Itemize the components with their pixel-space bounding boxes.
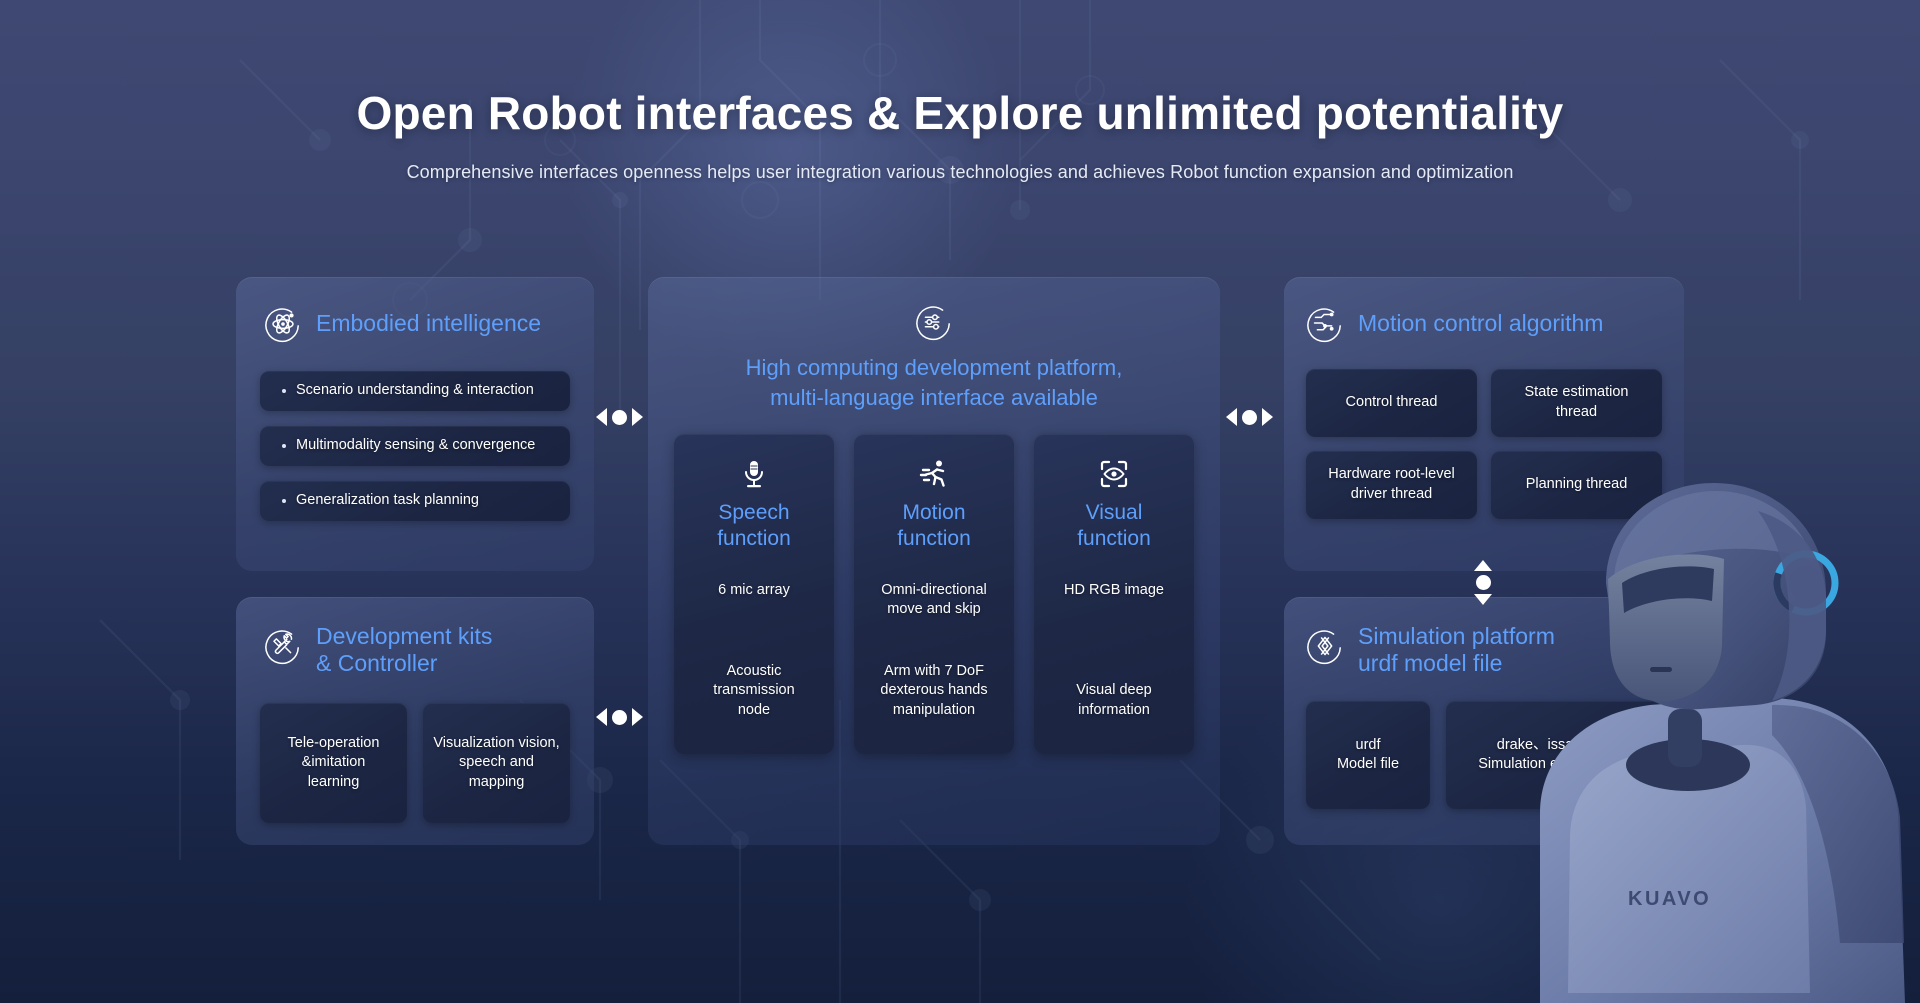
list-item[interactable]: Control thread	[1306, 369, 1477, 437]
eye-scan-icon	[1098, 456, 1130, 492]
list-item[interactable]: Multimodality sensing & convergence	[260, 426, 570, 466]
arrow-down-icon	[1474, 594, 1492, 605]
list-item-label: Generalization task planning	[282, 491, 479, 511]
function-detail-secondary: Acoustic transmission node	[713, 662, 794, 721]
microphone-icon	[738, 456, 770, 492]
function-detail-secondary: Visual deep information	[1076, 681, 1152, 720]
function-detail-primary: Omni-directional move and skip	[881, 581, 987, 620]
list-item[interactable]: Scenario understanding & interaction	[260, 371, 570, 411]
panel-header: Embodied intelligence	[264, 305, 570, 343]
connector-devkits-to-center	[596, 708, 643, 726]
list-item[interactable]: Hardware root-level driver thread	[1306, 451, 1477, 519]
page-title: Open Robot interfaces & Explore unlimite…	[0, 86, 1920, 140]
list-item[interactable]: Tele-operation &imitation learning	[260, 703, 407, 823]
list-item-label: Visualization vision, speech and mapping	[431, 734, 562, 793]
panel-title: High computing development platform, mul…	[674, 353, 1194, 412]
list-item-label: Multimodality sensing & convergence	[282, 436, 535, 456]
function-card-speech[interactable]: Speech function 6 mic array Acoustic tra…	[674, 434, 834, 754]
connector-center-to-motion-control	[1226, 408, 1273, 426]
circuit-nodes-icon	[1306, 305, 1344, 343]
panel-title: Motion control algorithm	[1358, 310, 1603, 337]
robot-brand-text: KUAVO	[1628, 888, 1711, 910]
panel-embodied-intelligence[interactable]: Embodied intelligence Scenario understan…	[236, 277, 594, 571]
tools-icon	[264, 627, 302, 665]
poster-canvas: Open Robot interfaces & Explore unlimite…	[0, 0, 1920, 1003]
list-item-label: Scenario understanding & interaction	[282, 381, 534, 401]
connector-embodied-to-center	[596, 408, 643, 426]
list-item[interactable]: Visualization vision, speech and mapping	[423, 703, 570, 823]
list-item-label: urdf Model file	[1337, 736, 1399, 775]
arrow-right-icon	[632, 408, 643, 426]
arrow-left-icon	[596, 708, 607, 726]
sliders-icon	[674, 303, 1194, 341]
devkits-items-list: Tele-operation &imitation learning Visua…	[260, 703, 570, 823]
connector-dot-icon	[1476, 575, 1491, 590]
list-item[interactable]: Generalization task planning	[260, 481, 570, 521]
function-detail-primary: HD RGB image	[1064, 581, 1164, 601]
function-card-motion[interactable]: Motion function Omni-directional move an…	[854, 434, 1014, 754]
header: Open Robot interfaces & Explore unlimite…	[0, 86, 1920, 183]
list-item-label: Tele-operation &imitation learning	[288, 734, 380, 793]
list-item[interactable]: urdf Model file	[1306, 701, 1430, 809]
connector-dot-icon	[612, 710, 627, 725]
panel-header: Motion control algorithm	[1306, 305, 1662, 343]
arrow-up-icon	[1474, 560, 1492, 571]
panel-header: Development kits & Controller	[264, 623, 570, 677]
atom-icon	[264, 305, 302, 343]
panel-title: Development kits & Controller	[316, 623, 492, 677]
list-item-label: Hardware root-level driver thread	[1328, 465, 1455, 504]
connector-motion-to-simulation	[1474, 560, 1492, 605]
running-person-icon	[918, 456, 950, 492]
function-detail-secondary: Arm with 7 DoF dexterous hands manipulat…	[880, 662, 987, 721]
function-title: Motion function	[897, 500, 971, 550]
list-item-label: Control thread	[1346, 393, 1438, 413]
function-title: Visual function	[1077, 500, 1151, 550]
function-detail-primary: 6 mic array	[718, 581, 790, 601]
diamond-layers-icon	[1306, 627, 1344, 665]
function-title: Speech function	[717, 500, 791, 550]
arrow-right-icon	[1262, 408, 1273, 426]
embodied-items-list: Scenario understanding & interaction Mul…	[260, 371, 570, 521]
arrow-left-icon	[1226, 408, 1237, 426]
connector-dot-icon	[1242, 410, 1257, 425]
function-cards: Speech function 6 mic array Acoustic tra…	[674, 434, 1194, 754]
arrow-right-icon	[632, 708, 643, 726]
panel-computing-platform[interactable]: High computing development platform, mul…	[648, 277, 1220, 845]
robot-illustration: KUAVO	[1510, 383, 1920, 1003]
connector-dot-icon	[612, 410, 627, 425]
page-subtitle: Comprehensive interfaces openness helps …	[0, 162, 1920, 183]
panel-development-kits[interactable]: Development kits & Controller Tele-opera…	[236, 597, 594, 845]
function-card-visual[interactable]: Visual function HD RGB image Visual deep…	[1034, 434, 1194, 754]
panel-title: Embodied intelligence	[316, 310, 541, 337]
arrow-left-icon	[596, 408, 607, 426]
